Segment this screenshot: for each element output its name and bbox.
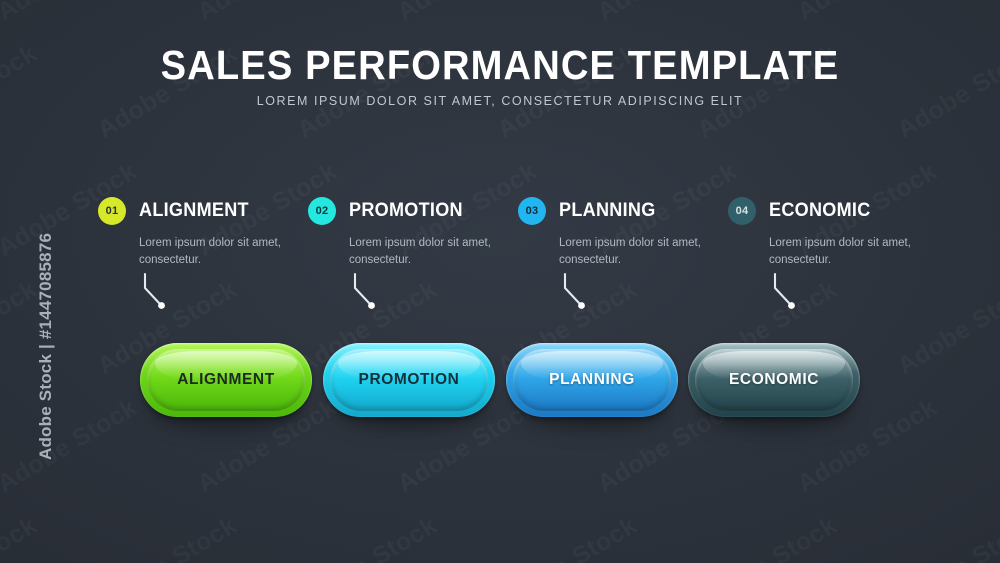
pill-label: ALIGNMENT — [177, 371, 275, 389]
steps-text-row: 01ALIGNMENTLorem ipsum dolor sit amet, c… — [0, 196, 1000, 316]
step-description: Lorem ipsum dolor sit amet, consectetur. — [349, 235, 509, 269]
step-title: PROMOTION — [349, 200, 463, 222]
watermark-text: Adobe Stock — [93, 511, 243, 563]
step-heading-row: 03PLANNING — [518, 196, 723, 226]
stock-credit-label: Adobe Stock | #1447085876 — [36, 160, 56, 460]
pill-inner-face: PROMOTION — [330, 349, 488, 411]
step-description: Lorem ipsum dolor sit amet, consectetur. — [769, 235, 929, 269]
pill-label: PLANNING — [549, 371, 635, 389]
page-subtitle: LOREM IPSUM DOLOR SIT AMET, CONSECTETUR … — [0, 94, 1000, 108]
infographic-canvas: Adobe StockAdobe StockAdobe StockAdobe S… — [0, 0, 1000, 563]
watermark-text: Adobe Stock — [993, 0, 1000, 27]
pill-inner-face: ECONOMIC — [695, 349, 853, 411]
steps-pill-row: ALIGNMENTPROMOTIONPLANNINGECONOMIC — [0, 343, 1000, 433]
step-pill-button-04[interactable]: ECONOMIC — [688, 343, 860, 417]
connector-line-icon — [562, 272, 608, 312]
step-item-04[interactable]: 04ECONOMICLorem ipsum dolor sit amet, co… — [728, 196, 933, 269]
watermark-text: Adobe Stock — [593, 0, 743, 27]
step-title: ALIGNMENT — [139, 200, 249, 222]
watermark-text: Adobe Stock — [393, 0, 543, 27]
watermark-text: Adobe Stock — [793, 0, 943, 27]
watermark-text: Adobe Stock — [193, 0, 343, 27]
step-number-badge[interactable]: 02 — [308, 197, 336, 225]
connector-line-icon — [772, 272, 818, 312]
watermark-text: Adobe Stock — [693, 511, 843, 563]
pill-outer-rim[interactable]: PROMOTION — [323, 343, 495, 417]
step-heading-row: 01ALIGNMENT — [98, 196, 303, 226]
step-pill-button-02[interactable]: PROMOTION — [323, 343, 495, 417]
step-item-03[interactable]: 03PLANNINGLorem ipsum dolor sit amet, co… — [518, 196, 723, 269]
pill-label: ECONOMIC — [729, 371, 819, 389]
stock-side-rail: Adobe Stock | #1447085876 — [0, 0, 42, 563]
pill-outer-rim[interactable]: ECONOMIC — [688, 343, 860, 417]
step-title: ECONOMIC — [769, 200, 871, 222]
step-pill-button-03[interactable]: PLANNING — [506, 343, 678, 417]
header: SALES PERFORMANCE TEMPLATE LOREM IPSUM D… — [0, 42, 1000, 108]
step-heading-row: 04ECONOMIC — [728, 196, 933, 226]
step-description: Lorem ipsum dolor sit amet, consectetur. — [559, 235, 719, 269]
connector-line-icon — [352, 272, 398, 312]
pill-outer-rim[interactable]: PLANNING — [506, 343, 678, 417]
page-title: SALES PERFORMANCE TEMPLATE — [35, 42, 965, 88]
pill-label: PROMOTION — [359, 371, 460, 389]
step-item-01[interactable]: 01ALIGNMENTLorem ipsum dolor sit amet, c… — [98, 196, 303, 269]
pill-outer-rim[interactable]: ALIGNMENT — [140, 343, 312, 417]
step-number-badge[interactable]: 01 — [98, 197, 126, 225]
step-heading-row: 02PROMOTION — [308, 196, 513, 226]
connector-line-icon — [142, 272, 188, 312]
watermark-text: Adobe Stock — [893, 511, 1000, 563]
step-number-badge[interactable]: 03 — [518, 197, 546, 225]
pill-inner-face: PLANNING — [513, 349, 671, 411]
step-number-badge[interactable]: 04 — [728, 197, 756, 225]
watermark-text: Adobe Stock — [493, 511, 643, 563]
watermark-text: Adobe Stock — [293, 511, 443, 563]
step-item-02[interactable]: 02PROMOTIONLorem ipsum dolor sit amet, c… — [308, 196, 513, 269]
step-title: PLANNING — [559, 200, 656, 222]
pill-inner-face: ALIGNMENT — [147, 349, 305, 411]
step-pill-button-01[interactable]: ALIGNMENT — [140, 343, 312, 417]
step-description: Lorem ipsum dolor sit amet, consectetur. — [139, 235, 299, 269]
